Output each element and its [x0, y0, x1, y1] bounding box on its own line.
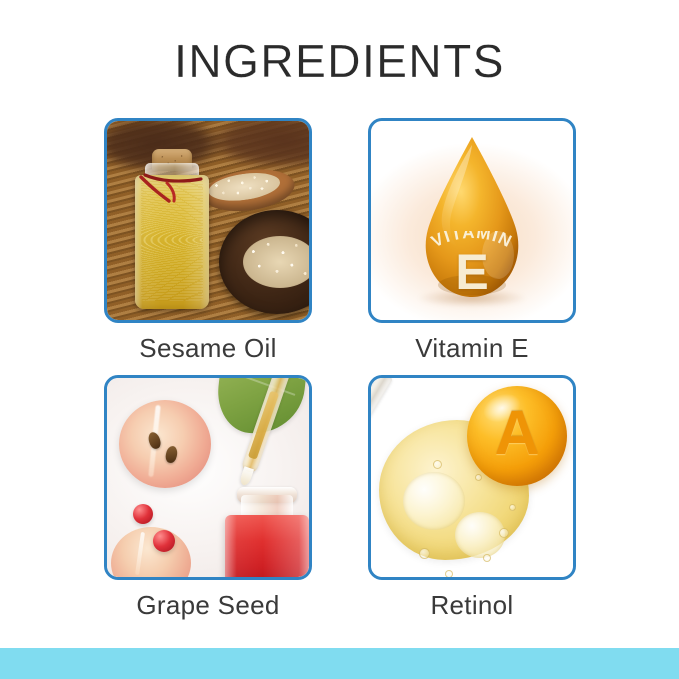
oil-bubble-small-3	[499, 528, 509, 538]
ingredient-label-vitamin-e: Vitamin E	[368, 323, 576, 363]
oil-bubble-small-7	[509, 504, 516, 511]
ingredient-cell-retinol: A Retinol	[368, 375, 576, 620]
ingredient-label-sesame-oil: Sesame Oil	[104, 323, 312, 363]
bottle-body-red-liquid	[225, 515, 309, 577]
grape-seed-2	[164, 445, 178, 464]
red-oil-bottle	[219, 481, 309, 577]
ingredient-label-retinol: Retinol	[368, 580, 576, 620]
sesame-oil-bottle	[133, 149, 211, 309]
droplet-shape	[412, 135, 532, 303]
red-string-icon	[139, 173, 205, 203]
ingredient-card-vitamin-e[interactable]: VITAMIN E	[368, 118, 576, 323]
ingredient-label-grape-seed: Grape Seed	[104, 580, 312, 620]
oil-bubble-small-4	[483, 554, 491, 562]
ingredient-card-sesame-oil[interactable]	[104, 118, 312, 323]
halved-grape	[119, 400, 211, 488]
red-berry-2	[153, 530, 175, 552]
bottom-accent-bar	[0, 648, 679, 679]
red-berry-1	[133, 504, 153, 524]
ingredients-panel: INGREDIENTS	[0, 0, 679, 679]
oil-droplet-icon: VITAMIN E	[412, 135, 532, 303]
ingredient-cell-grape-seed: Grape Seed	[104, 375, 312, 620]
oil-bubble-small-5	[419, 548, 430, 559]
grape-seed-1	[147, 430, 163, 450]
ingredient-cell-vitamin-e: VITAMIN E Vitamin E	[368, 118, 576, 363]
sesame-oil-image	[107, 121, 309, 320]
oil-bubble-small-1	[433, 460, 442, 469]
oil-bubble-large-2	[455, 512, 505, 558]
ingredient-cell-sesame-oil: Sesame Oil	[104, 118, 312, 363]
page-title: INGREDIENTS	[0, 38, 679, 84]
vitamin-a-sphere-icon: A	[467, 386, 567, 486]
vitamin-letter-a: A	[467, 386, 567, 486]
oil-bubble-large-1	[403, 472, 465, 530]
retinol-image: A	[371, 378, 573, 577]
vitamin-e-image: VITAMIN E	[371, 121, 573, 320]
ingredient-card-grape-seed[interactable]	[104, 375, 312, 580]
oil-bubble-small-6	[445, 570, 453, 577]
ingredient-card-retinol[interactable]: A	[368, 375, 576, 580]
grape-seed-image	[107, 378, 309, 577]
ingredients-grid: Sesame Oil	[104, 118, 576, 619]
